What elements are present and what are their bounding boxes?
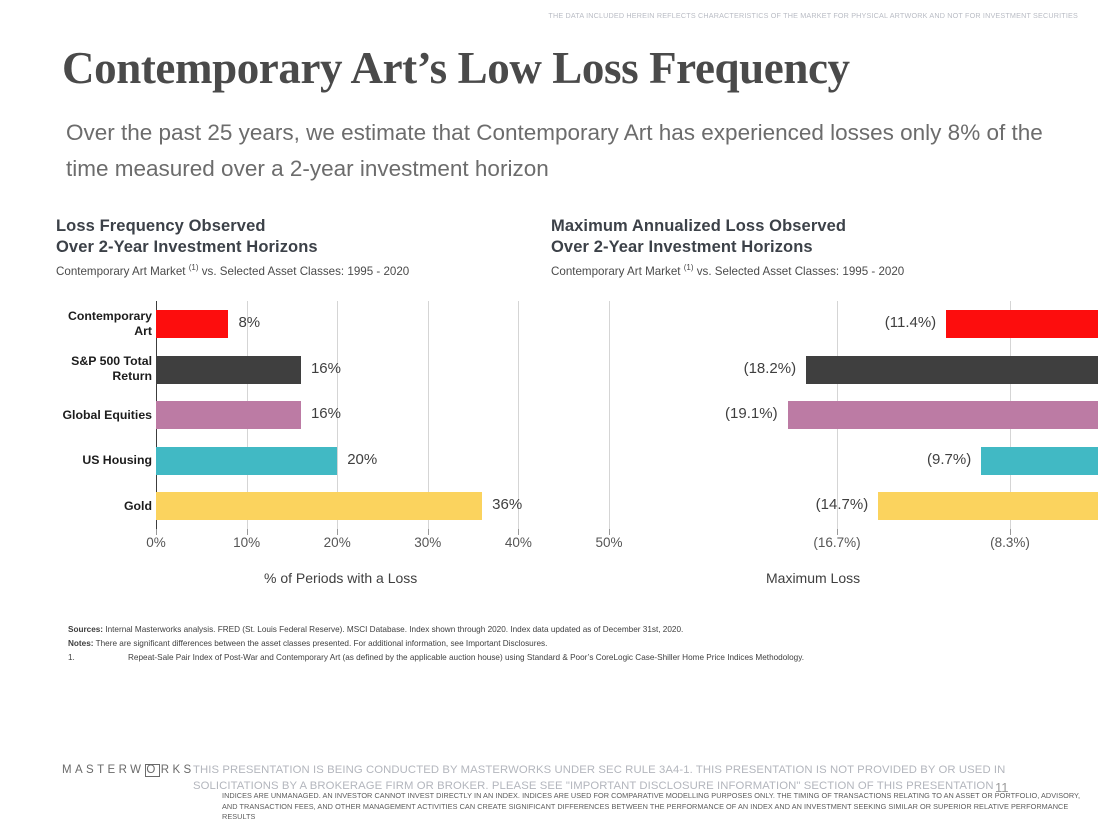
chart-subtitle-pre: Contemporary Art Market bbox=[56, 265, 189, 278]
axis-tick-label: (16.7%) bbox=[787, 535, 887, 550]
category-label: US Housing bbox=[40, 453, 152, 468]
bar-value-label: (14.7%) bbox=[816, 494, 869, 516]
category-label: Contemporary Art bbox=[40, 309, 152, 339]
footer-disclaimer-main: THIS PRESENTATION IS BEING CONDUCTED BY … bbox=[193, 762, 1081, 794]
bar-row: 8% bbox=[156, 301, 609, 347]
plot-area-loss-frequency: 8%16%16%20%36% bbox=[156, 301, 609, 529]
logo-text-post: RKS bbox=[161, 764, 195, 776]
bar-row: (14.7%) bbox=[716, 483, 1098, 529]
chart-subtitle: Contemporary Art Market (1) vs. Selected… bbox=[551, 261, 1081, 279]
sources-label: Sources: bbox=[68, 625, 103, 634]
chart-panel-max-loss-header: Maximum Annualized Loss Observed Over 2-… bbox=[551, 216, 1081, 279]
bar-value-label: 36% bbox=[492, 494, 522, 516]
bar bbox=[946, 310, 1098, 338]
axis-tick-label: 0% bbox=[116, 535, 196, 550]
bar-value-label: 16% bbox=[311, 403, 341, 425]
chart-subtitle-post: vs. Selected Asset Classes: 1995 - 2020 bbox=[199, 265, 410, 278]
logo-boxed-o: O bbox=[145, 764, 159, 777]
chart-title-line1: Loss Frequency Observed bbox=[56, 216, 566, 237]
footnote-text: Repeat-Sale Pair Index of Post-War and C… bbox=[128, 653, 804, 662]
category-label: S&P 500 Total Return bbox=[40, 354, 152, 384]
axis-title-x-left: % of Periods with a Loss bbox=[264, 570, 417, 586]
bar bbox=[981, 447, 1098, 475]
notes-text: There are significant differences betwee… bbox=[93, 639, 547, 648]
bar bbox=[156, 447, 337, 475]
bar-value-label: (18.2%) bbox=[744, 358, 797, 380]
logo-text-pre: MASTERW bbox=[62, 764, 144, 776]
chart-title-line2: Over 2-Year Investment Horizons bbox=[56, 237, 566, 258]
bar-row: (18.2%) bbox=[716, 347, 1098, 393]
bar-row: 16% bbox=[156, 392, 609, 438]
category-label: Global Equities bbox=[40, 408, 152, 423]
bar-value-label: (9.7%) bbox=[927, 449, 971, 471]
bar-value-label: 16% bbox=[311, 358, 341, 380]
chart-subtitle-post: vs. Selected Asset Classes: 1995 - 2020 bbox=[694, 265, 905, 278]
bar bbox=[156, 356, 301, 384]
bar bbox=[156, 310, 228, 338]
notes-label: Notes: bbox=[68, 639, 93, 648]
bar-row: (19.1%) bbox=[716, 392, 1098, 438]
axis-title-x-right: Maximum Loss bbox=[766, 570, 860, 586]
chart-title-line1: Maximum Annualized Loss Observed bbox=[551, 216, 1081, 237]
bar-row: 16% bbox=[156, 347, 609, 393]
bar-row: 20% bbox=[156, 438, 609, 484]
bar bbox=[878, 492, 1098, 520]
chart-subtitle: Contemporary Art Market (1) vs. Selected… bbox=[56, 261, 566, 279]
page-number: 11 bbox=[995, 780, 1009, 795]
bar bbox=[788, 401, 1098, 429]
bar-value-label: 8% bbox=[238, 312, 260, 334]
bar-row: (11.4%) bbox=[716, 301, 1098, 347]
axis-tick-label: 30% bbox=[388, 535, 468, 550]
page-subtitle: Over the past 25 years, we estimate that… bbox=[66, 115, 1056, 187]
footnote-number: 1. bbox=[68, 651, 75, 665]
chart-subtitle-pre: Contemporary Art Market bbox=[551, 265, 684, 278]
bar bbox=[156, 401, 301, 429]
sources-block: Sources: Internal Masterworks analysis. … bbox=[68, 623, 804, 666]
chart-maximum-annualized-loss: (11.4%)(18.2%)(19.1%)(9.7%)(14.7%) (16.7… bbox=[596, 301, 1081, 529]
axis-tick-label: 50% bbox=[569, 535, 649, 550]
bar-value-label: 20% bbox=[347, 449, 377, 471]
chart-subtitle-footnote-marker: (1) bbox=[684, 263, 694, 272]
footnote-row: 1.Repeat-Sale Pair Index of Post-War and… bbox=[68, 651, 804, 665]
masterworks-logo: MASTERWORKS bbox=[62, 764, 195, 777]
bar-row: (9.7%) bbox=[716, 438, 1098, 484]
sources-row: Sources: Internal Masterworks analysis. … bbox=[68, 623, 804, 637]
page-title: Contemporary Art’s Low Loss Frequency bbox=[62, 42, 850, 94]
footer-disclaimer-fine: INDICES ARE UNMANAGED. AN INVESTOR CANNO… bbox=[222, 791, 1084, 823]
top-disclaimer: THE DATA INCLUDED HEREIN REFLECTS CHARAC… bbox=[548, 11, 1078, 20]
sources-text: Internal Masterworks analysis. FRED (St.… bbox=[103, 625, 683, 634]
axis-tick-label: 20% bbox=[297, 535, 377, 550]
chart-panel-loss-frequency-header: Loss Frequency Observed Over 2-Year Inve… bbox=[56, 216, 566, 279]
axis-tick-label: 10% bbox=[207, 535, 287, 550]
bar-value-label: (11.4%) bbox=[885, 312, 936, 334]
bar bbox=[806, 356, 1098, 384]
bar-row: 36% bbox=[156, 483, 609, 529]
notes-row: Notes: There are significant differences… bbox=[68, 637, 804, 651]
plot-area-maximum-loss: (11.4%)(18.2%)(19.1%)(9.7%)(14.7%) bbox=[716, 301, 1098, 529]
category-label: Gold bbox=[40, 499, 152, 514]
bar-value-label: (19.1%) bbox=[725, 403, 778, 425]
axis-tick-label: (8.3%) bbox=[960, 535, 1060, 550]
chart-subtitle-footnote-marker: (1) bbox=[189, 263, 199, 272]
bar bbox=[156, 492, 482, 520]
chart-title-line2: Over 2-Year Investment Horizons bbox=[551, 237, 1081, 258]
axis-tick-label: 40% bbox=[478, 535, 558, 550]
